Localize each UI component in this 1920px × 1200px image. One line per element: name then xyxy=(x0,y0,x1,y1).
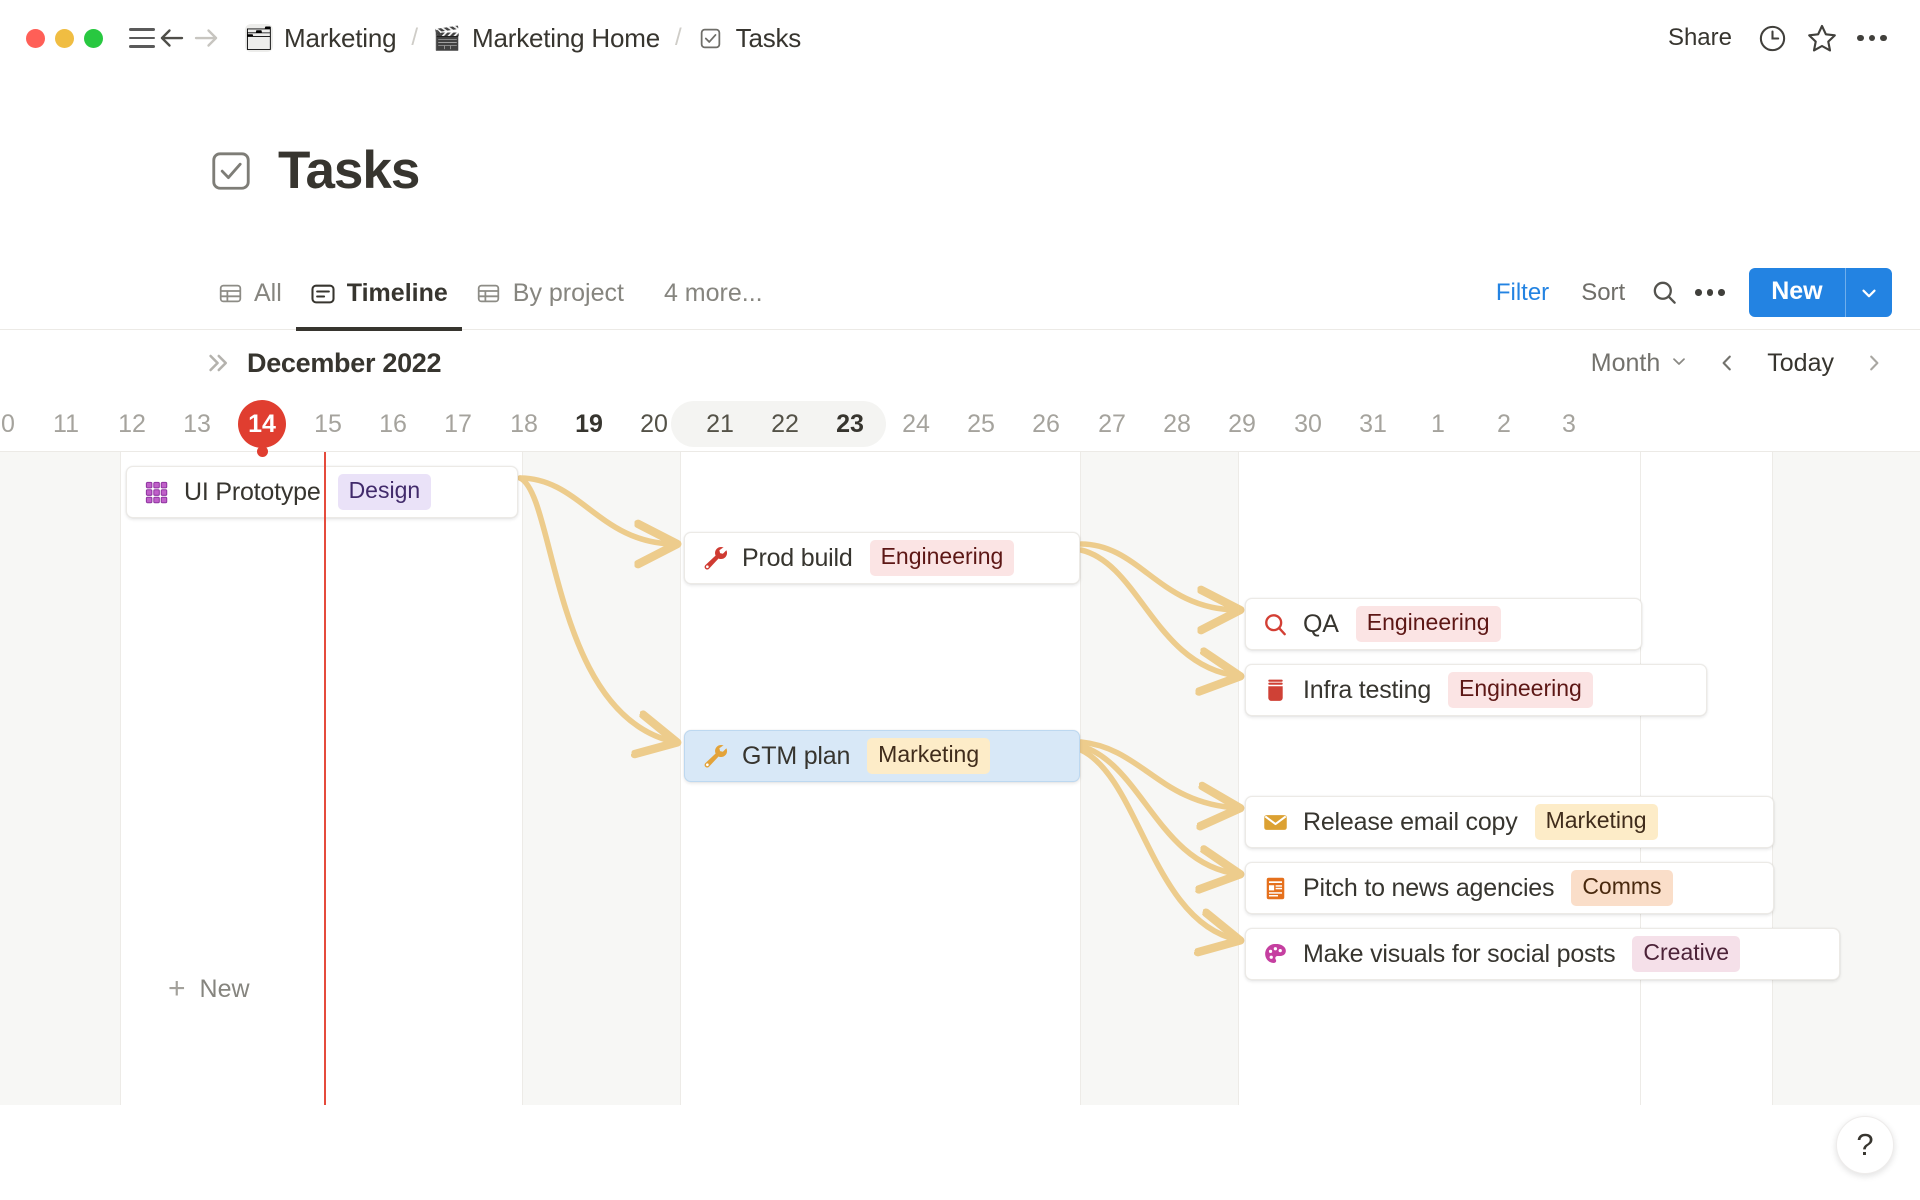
timeline-task-bar[interactable]: Pitch to news agenciesComms xyxy=(1245,862,1774,914)
breadcrumb-label: Marketing xyxy=(284,23,396,54)
sort-button[interactable]: Sort xyxy=(1567,273,1639,313)
star-icon[interactable] xyxy=(1800,16,1844,60)
today-day-chip[interactable]: 14 xyxy=(238,400,286,448)
task-project-tag: Engineering xyxy=(1448,672,1593,707)
newspaper-icon xyxy=(1260,873,1290,903)
titlebar-actions: Share xyxy=(1656,16,1894,60)
notebook-icon: 🗂 xyxy=(245,24,273,52)
view-tabs-bar: All Timeline By project 4 more... Filter… xyxy=(0,258,1920,330)
timeline-header: December 2022 Month Today xyxy=(0,330,1920,396)
task-title: UI Prototype xyxy=(184,478,321,507)
breadcrumb-label: Marketing Home xyxy=(472,23,660,54)
breadcrumb-item-marketing[interactable]: 🗂 Marketing xyxy=(239,20,402,57)
tab-label: All xyxy=(254,279,282,308)
view-toolbar: Filter Sort New xyxy=(1482,268,1892,329)
clock-icon[interactable] xyxy=(1750,16,1794,60)
tab-label: By project xyxy=(513,279,624,308)
timeline-icon xyxy=(310,281,336,307)
task-project-tag: Engineering xyxy=(870,540,1015,575)
timeline-next-chevron-right-icon[interactable] xyxy=(1854,343,1894,383)
filter-button[interactable]: Filter xyxy=(1482,273,1563,313)
search-icon[interactable] xyxy=(1643,272,1685,314)
chevron-down-icon xyxy=(1669,349,1689,378)
checkbox-icon xyxy=(697,24,725,52)
view-options-ellipsis-icon[interactable] xyxy=(1689,272,1731,314)
title-bar: 🗂 Marketing / 🎬 Marketing Home / Tasks S… xyxy=(0,0,1920,76)
breadcrumb-separator: / xyxy=(411,24,418,52)
breadcrumb-item-tasks[interactable]: Tasks xyxy=(691,20,807,57)
back-icon[interactable] xyxy=(155,21,189,55)
task-title: Release email copy xyxy=(1303,808,1518,837)
task-project-tag: Comms xyxy=(1571,870,1672,905)
timeline-controls: Month Today xyxy=(1581,343,1894,383)
help-button[interactable]: ? xyxy=(1836,1116,1894,1174)
forward-icon[interactable] xyxy=(189,21,223,55)
timeline-task-bar[interactable]: GTM planMarketing xyxy=(684,730,1080,782)
sidebar-toggle-icon[interactable] xyxy=(129,28,155,48)
wrench-red-icon xyxy=(699,543,729,573)
table-icon xyxy=(217,281,243,307)
column-divider xyxy=(1772,452,1773,1105)
task-title: GTM plan xyxy=(742,742,850,771)
clapperboard-icon: 🎬 xyxy=(433,24,461,52)
column-band xyxy=(1080,452,1238,1105)
page-header: Tasks xyxy=(208,140,419,201)
add-new-task-row[interactable]: + New xyxy=(168,974,250,1004)
task-title: QA xyxy=(1303,610,1339,639)
timeline-task-bar[interactable]: Release email copyMarketing xyxy=(1245,796,1774,848)
timeline-scale-select[interactable]: Month xyxy=(1581,344,1699,383)
column-band xyxy=(522,452,680,1105)
task-project-tag: Design xyxy=(338,474,432,509)
new-dropdown-chevron-down-icon[interactable] xyxy=(1846,268,1892,317)
task-title: Pitch to news agencies xyxy=(1303,874,1554,903)
more-views-button[interactable]: 4 more... xyxy=(654,279,773,308)
search-red-icon xyxy=(1260,609,1290,639)
tab-label: Timeline xyxy=(347,279,448,308)
timeline-grid: + New UI PrototypeDesignProd buildEngine… xyxy=(0,452,1920,1105)
palette-icon xyxy=(1260,939,1290,969)
timeline-task-bar[interactable]: Infra testingEngineering xyxy=(1245,664,1707,716)
task-title: Infra testing xyxy=(1303,676,1431,705)
notion-window: 🗂 Marketing / 🎬 Marketing Home / Tasks S… xyxy=(0,0,1920,1200)
column-divider xyxy=(1640,452,1641,1105)
column-divider xyxy=(680,452,681,1105)
breadcrumb: 🗂 Marketing / 🎬 Marketing Home / Tasks xyxy=(239,20,807,57)
column-divider xyxy=(1238,452,1239,1105)
task-project-tag: Engineering xyxy=(1356,606,1501,641)
timeline-task-bar[interactable]: Prod buildEngineering xyxy=(684,532,1080,584)
ruler-day[interactable]: 13 xyxy=(157,396,237,452)
chevrons-right-icon[interactable] xyxy=(203,349,231,377)
task-title: Prod build xyxy=(742,544,853,573)
tab-timeline[interactable]: Timeline xyxy=(296,258,462,329)
today-marker-dot xyxy=(257,446,268,457)
view-tabs: All Timeline By project 4 more... xyxy=(203,258,773,329)
maximize-window-button[interactable] xyxy=(84,29,103,48)
column-divider xyxy=(1080,452,1081,1105)
share-button[interactable]: Share xyxy=(1656,18,1744,58)
close-window-button[interactable] xyxy=(26,29,45,48)
column-divider xyxy=(522,452,523,1105)
tab-by-project[interactable]: By project xyxy=(462,258,638,329)
column-band xyxy=(1772,452,1920,1105)
timeline-month-group: December 2022 xyxy=(203,348,441,379)
timeline-day-ruler: 0111213141516171819202122232425262728293… xyxy=(0,396,1920,452)
task-project-tag: Marketing xyxy=(867,738,990,773)
column-band xyxy=(0,452,120,1105)
ellipsis-icon[interactable] xyxy=(1850,16,1894,60)
plus-icon: + xyxy=(168,974,186,1004)
checkbox-icon[interactable] xyxy=(208,148,254,194)
envelope-gold-icon xyxy=(1260,807,1290,837)
page-title: Tasks xyxy=(278,140,419,201)
timeline-scale-label: Month xyxy=(1591,349,1660,378)
timeline-task-bar[interactable]: QAEngineering xyxy=(1245,598,1642,650)
column-divider xyxy=(120,452,121,1105)
window-controls xyxy=(26,29,103,48)
today-vertical-line xyxy=(324,452,326,1105)
wrench-gold-icon xyxy=(699,741,729,771)
database-red-icon xyxy=(1260,675,1290,705)
breadcrumb-item-marketing-home[interactable]: 🎬 Marketing Home xyxy=(427,20,666,57)
bottom-strip xyxy=(0,1105,1920,1200)
task-project-tag: Marketing xyxy=(1535,804,1658,839)
timeline-task-bar[interactable]: Make visuals for social postsCreative xyxy=(1245,928,1840,980)
timeline-task-bar[interactable]: UI PrototypeDesign xyxy=(126,466,518,518)
task-project-tag: Creative xyxy=(1632,936,1740,971)
new-button-group: New xyxy=(1749,268,1892,317)
breadcrumb-separator: / xyxy=(675,24,682,52)
task-title: Make visuals for social posts xyxy=(1303,940,1615,969)
breadcrumb-label: Tasks xyxy=(736,23,801,54)
minimize-window-button[interactable] xyxy=(55,29,74,48)
timeline-today-button[interactable]: Today xyxy=(1755,344,1846,383)
grid-purple-icon xyxy=(141,477,171,507)
new-button[interactable]: New xyxy=(1749,268,1844,317)
ruler-day[interactable]: 3 xyxy=(1529,396,1609,452)
add-new-task-label: New xyxy=(200,975,250,1004)
timeline-prev-chevron-left-icon[interactable] xyxy=(1707,343,1747,383)
tab-all[interactable]: All xyxy=(203,258,296,329)
timeline-month-label: December 2022 xyxy=(247,348,441,379)
table-icon xyxy=(476,281,502,307)
